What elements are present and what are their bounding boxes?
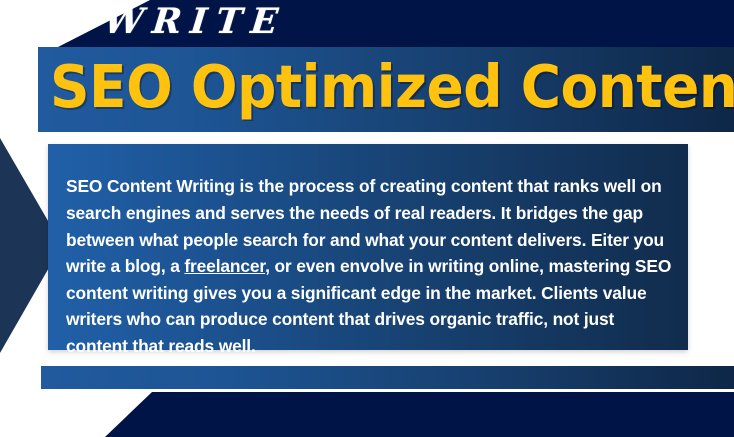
body-paragraph: SEO Content Writing is the process of cr…: [66, 173, 674, 359]
page-title: SEO Optimized Content: [50, 42, 686, 132]
seo-poster: WRITE SEO Optimized Content SEO Content …: [0, 0, 734, 437]
title-band: SEO Optimized Content: [38, 47, 734, 132]
eyebrow-label: WRITE: [102, 0, 289, 47]
footer-gradient-bar: [41, 366, 734, 389]
body-panel: SEO Content Writing is the process of cr…: [48, 144, 688, 350]
freelancer-link[interactable]: freelancer: [184, 256, 265, 276]
footer-navy-block: [0, 392, 734, 437]
